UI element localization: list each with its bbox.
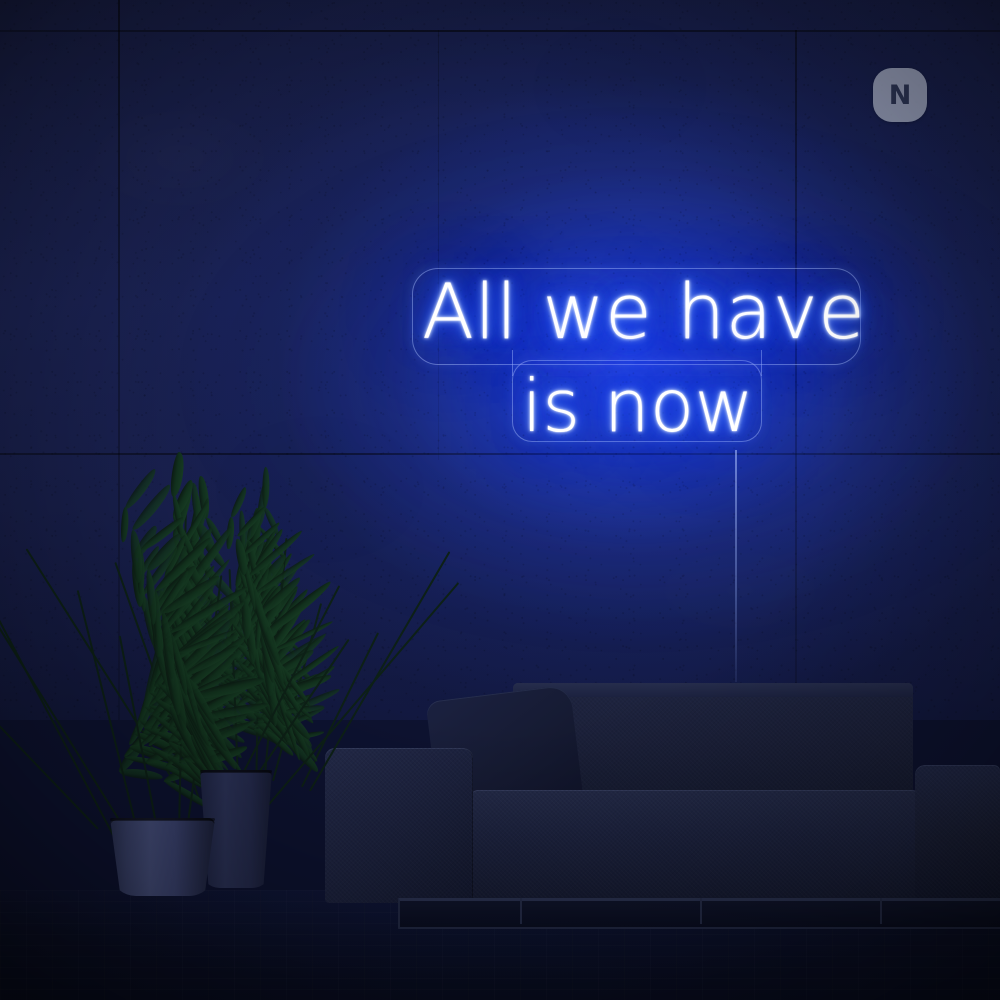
plant-frond <box>237 717 281 740</box>
neon-text-line-1: All we have <box>422 274 865 350</box>
plant-frond <box>175 730 226 769</box>
potted-plant-front-pot-rim <box>110 818 215 821</box>
plant-frond <box>232 720 268 739</box>
plant-frond <box>143 723 193 750</box>
sofa-frame <box>398 898 1000 929</box>
sofa-seat-cushion <box>470 790 920 915</box>
plant-frond <box>168 725 219 769</box>
plant-frond <box>184 748 235 766</box>
plant-frond <box>285 737 321 773</box>
plant-frond <box>255 719 292 747</box>
plant-frond <box>150 728 213 762</box>
plant-frond <box>116 731 151 776</box>
plant-frond <box>206 734 244 774</box>
plant-frond <box>148 744 205 784</box>
neon-sign[interactable]: All we have is now <box>400 258 870 458</box>
plant-frond <box>123 721 157 759</box>
plant-frond <box>177 737 228 767</box>
plant-frond <box>195 717 256 750</box>
plant-frond <box>129 741 179 765</box>
plant-frond <box>146 759 188 776</box>
plant-frond <box>288 730 325 741</box>
plant-frond <box>139 744 182 762</box>
plant-frond <box>168 713 220 766</box>
plant-frond <box>207 721 251 743</box>
plant-frond <box>252 725 287 748</box>
potted-plant-back-pot-rim <box>200 770 272 773</box>
brand-badge[interactable]: N <box>873 68 927 122</box>
plant-frond <box>283 725 319 763</box>
sofa-frame-leg <box>880 898 882 924</box>
brand-badge-letter: N <box>889 82 912 109</box>
plant-frond <box>210 723 247 745</box>
sofa-section-right <box>915 765 1000 910</box>
sofa-arm-left <box>325 748 473 903</box>
plant-frond <box>185 718 215 772</box>
sofa-frame-leg <box>520 898 522 924</box>
plant-frond <box>179 718 227 746</box>
neon-text-line-2: is now <box>522 370 754 442</box>
plant-frond <box>197 715 240 771</box>
plant-frond <box>138 716 196 758</box>
potted-plant-front-pot <box>110 818 215 896</box>
plant-frond <box>262 727 296 758</box>
plant-frond <box>120 767 164 782</box>
plant-frond <box>164 718 218 770</box>
plant-frond <box>134 728 206 766</box>
plant-frond <box>125 754 178 770</box>
sofa-frame-leg <box>700 898 702 924</box>
plant-frond <box>144 728 190 744</box>
plant-frond <box>200 744 249 768</box>
plant-frond <box>174 720 230 772</box>
plant-frond <box>176 718 217 747</box>
plant-frond <box>152 712 224 773</box>
sofa-backrest-top-edge <box>513 683 913 697</box>
plant-frond <box>145 741 183 768</box>
scene-canvas: All we have is now N <box>0 0 1000 1000</box>
